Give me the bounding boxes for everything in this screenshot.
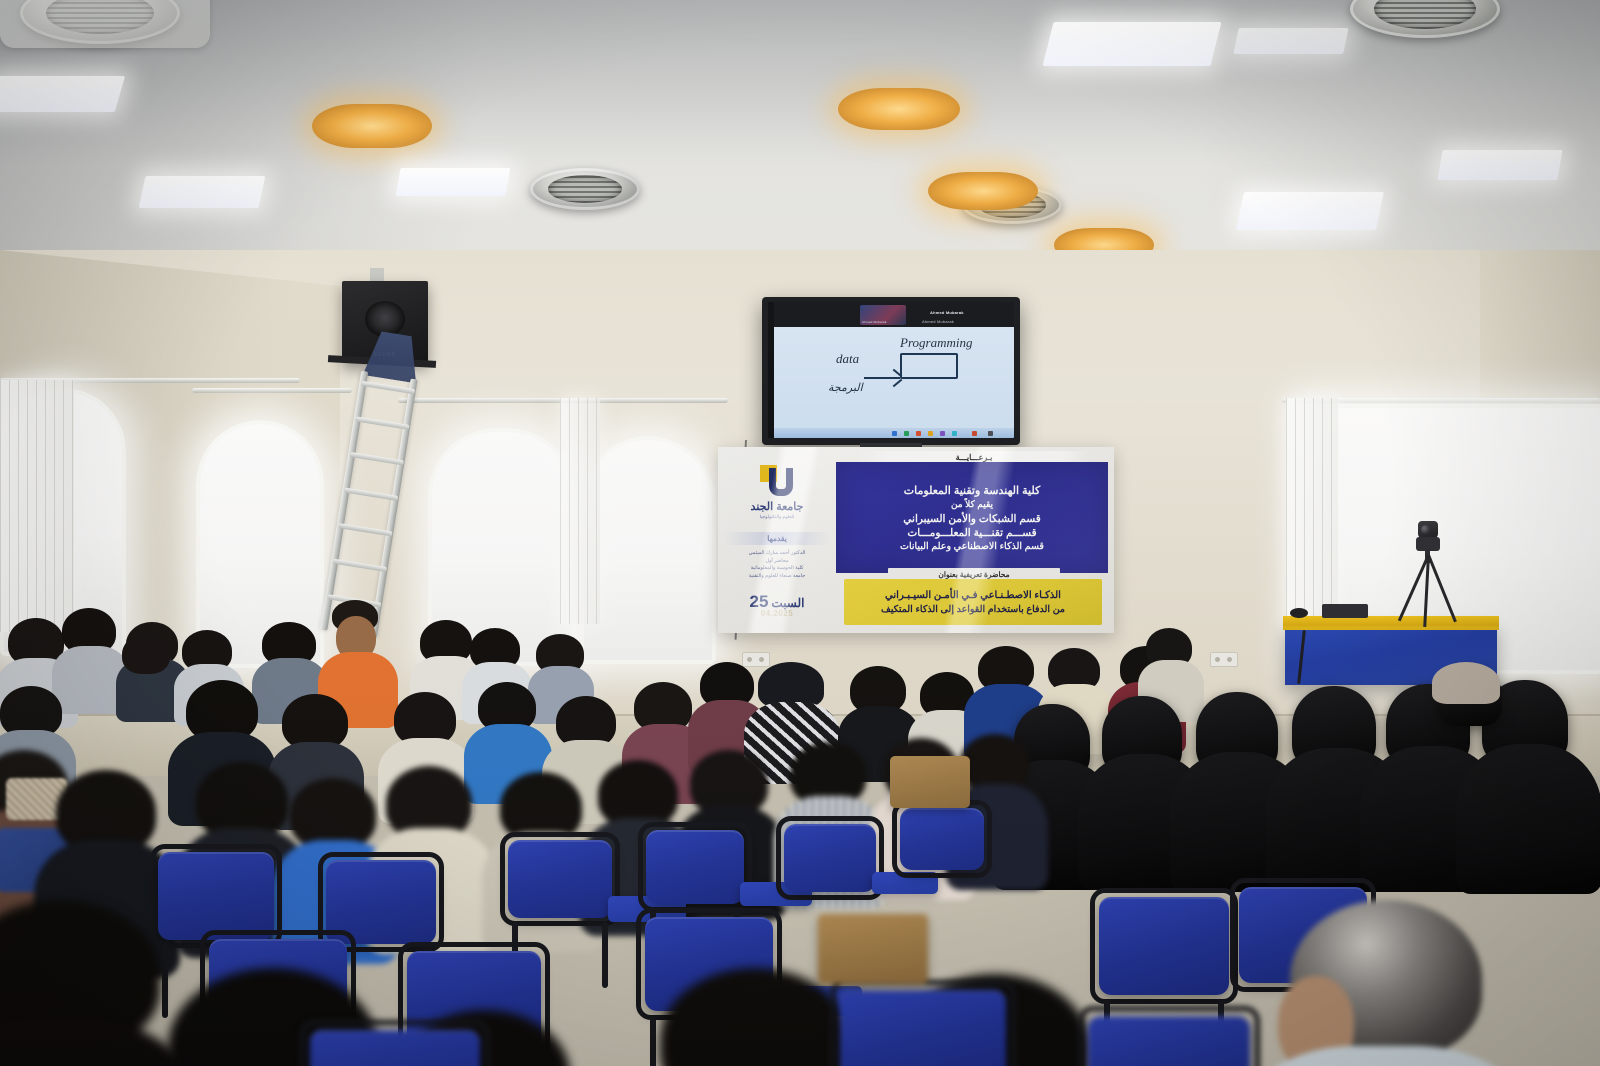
taskbar-icon[interactable] xyxy=(904,431,909,436)
video-camera-icon xyxy=(1418,521,1438,538)
tv-screen[interactable]: Ahmed Mubarak Ahmed Mubarak Ahmed Mubara… xyxy=(768,302,1014,438)
organizer-line-1: كلية الهندسة وتقنية المعلومات xyxy=(904,484,1040,497)
chair-backrest xyxy=(1099,897,1229,995)
ceiling-heater-icon xyxy=(838,88,960,130)
board-arrow-line xyxy=(864,377,900,379)
chair-backrest xyxy=(840,990,1006,1066)
board-note-programming: Programming xyxy=(900,335,972,351)
ladder-rung xyxy=(344,488,398,501)
board-rectangle xyxy=(900,353,958,379)
presented-by-label: يقدمها xyxy=(724,532,830,545)
camera-lens-icon xyxy=(1421,525,1430,534)
ladder-rung xyxy=(355,416,409,429)
chair-backrest xyxy=(508,840,612,918)
ceiling-light xyxy=(139,176,266,208)
tv-bezel xyxy=(768,302,774,438)
speaker-cone-icon xyxy=(365,301,405,337)
chair-backrest xyxy=(158,852,274,940)
organizer-line-4: قســـم تقنـــية المعلـــومـــات xyxy=(907,527,1036,539)
university-subtitle: للعلوم والتكنولوجيا xyxy=(724,514,830,520)
ceiling-light xyxy=(1437,150,1562,180)
ceiling-light xyxy=(1043,22,1222,66)
ladder-rung xyxy=(333,559,387,572)
ladder-rung xyxy=(350,452,404,465)
chair-leg xyxy=(650,1016,656,1066)
university-logo-icon xyxy=(760,465,794,497)
video-call-participant-name: Ahmed Mubarak xyxy=(930,310,964,315)
curtain xyxy=(560,398,600,624)
chair-backrest xyxy=(646,830,744,904)
logo-navy-u xyxy=(769,468,793,496)
lecture-title-line-1: الذكـاء الاصطـنـاعي فـي الأمـن السيـبـرا… xyxy=(885,590,1061,601)
taskbar-icon[interactable] xyxy=(940,431,945,436)
video-call-thumb-name: Ahmed Mubarak xyxy=(862,320,887,324)
presenter-name: الدكتور أحمد مبارك الميثمي xyxy=(724,550,830,558)
video-call-bar: Ahmed Mubarak Ahmed Mubarak Ahmed Mubara… xyxy=(768,302,1014,327)
taskbar-icon[interactable] xyxy=(928,431,933,436)
organizer-line-2: يقيم كلاً من xyxy=(951,499,993,510)
taskbar-icon[interactable] xyxy=(972,431,977,436)
chair-backrest xyxy=(784,824,876,892)
board-arrow-head-2 xyxy=(893,379,903,388)
board-note-data: data xyxy=(836,351,859,367)
torso xyxy=(1230,1046,1540,1066)
ceiling-light xyxy=(396,168,511,196)
chair-leg xyxy=(162,944,168,1018)
curtain-rod xyxy=(192,388,352,393)
organizer-line-5: قسم الذكاء الاصطناعي وعلم البيانات xyxy=(900,541,1044,552)
ceiling-light xyxy=(1233,28,1349,54)
chair-tablet-arm-wood xyxy=(890,756,970,808)
taskbar-icon[interactable] xyxy=(916,431,921,436)
curtain-pleats xyxy=(560,398,600,624)
university-name: جامعة الجند xyxy=(724,500,830,513)
board-note-arabic: البرمجة xyxy=(828,381,863,394)
wall-tv: Ahmed Mubarak Ahmed Mubarak Ahmed Mubara… xyxy=(762,297,1020,445)
taskbar-icon[interactable] xyxy=(952,431,957,436)
lecture-hall-photo: SOUND Ahmed Mubarak Ahmed Mubarak Ahmed … xyxy=(0,0,1600,1066)
ceiling-heater-icon xyxy=(312,104,432,148)
chair-leg xyxy=(602,922,608,988)
chair-backrest xyxy=(900,808,984,870)
ac-vent-plate xyxy=(0,0,210,48)
abaya xyxy=(1456,744,1600,894)
chair-tablet-arm-wood xyxy=(818,914,928,984)
taskbar[interactable] xyxy=(772,428,1014,438)
presenter-faculty: كلية الحوسبة والمعلوماتية xyxy=(724,565,830,573)
ac-vent-icon xyxy=(530,168,640,210)
taskbar-icon[interactable] xyxy=(892,431,897,436)
organizer-line-3: قسم الشبكات والأمن السيبراني xyxy=(903,513,1040,525)
head-wrap xyxy=(1432,662,1500,704)
presenter-university: جامعة صنعاء للعلوم والتقنية xyxy=(724,573,830,581)
curtain-pleats xyxy=(0,380,74,632)
video-call-thumbnail: Ahmed Mubarak xyxy=(860,305,906,325)
ladder-rung xyxy=(361,381,415,394)
presenter-rank: محاضر أول xyxy=(724,558,830,566)
curtain xyxy=(0,380,74,632)
ladder-rung xyxy=(338,523,392,536)
hair xyxy=(122,634,170,674)
chair-backrest xyxy=(1088,1016,1250,1066)
audience-area xyxy=(0,600,1600,1066)
chair-backrest xyxy=(310,1030,480,1066)
video-call-participant-name-2: Ahmed Mubarak xyxy=(922,319,954,324)
organizer-block: كلية الهندسة وتقنية المعلومات يقيم كلاً … xyxy=(836,462,1108,573)
ceiling-light xyxy=(1236,192,1384,230)
ceiling-light xyxy=(0,76,125,112)
ceiling-heater-icon xyxy=(928,172,1038,210)
whiteboard-canvas[interactable]: data البرمجة Programming xyxy=(772,327,1014,428)
taskbar-icon[interactable] xyxy=(988,431,993,436)
